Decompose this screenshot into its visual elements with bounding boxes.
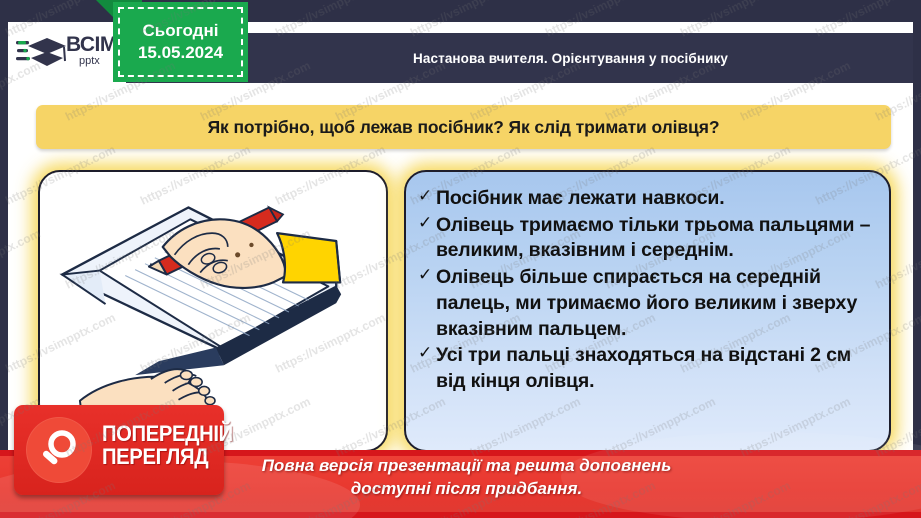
brand-logo-text: ВСІМ pptx: [66, 34, 117, 67]
list-item: ✓ Олівець тримаємо тільки трьома пальцям…: [416, 213, 873, 264]
list-item: ✓ Олівець більше спирається на середній …: [416, 265, 873, 342]
preview-badge-line2: ПЕРЕГЛЯД: [102, 445, 233, 468]
answers-panel: ✓ Посібник має лежати навкоси. ✓ Олівець…: [404, 170, 891, 452]
list-item: ✓ Посібник має лежати навкоси.: [416, 186, 873, 212]
question-banner: Як потрібно, щоб лежав посібник? Як слід…: [36, 105, 891, 149]
check-icon: ✓: [418, 212, 432, 234]
list-item-label: Усі три пальці знаходяться на відстані 2…: [436, 344, 851, 392]
slide-page: Настанова вчителя. Орієнтування у посібн…: [0, 0, 921, 518]
list-item-label: Посібник має лежати навкоси.: [436, 187, 725, 209]
preview-badge-line1: ПОПЕРЕДНІЙ: [102, 422, 233, 445]
check-icon: ✓: [418, 342, 432, 364]
list-item-label: Олівець більше спирається на середній па…: [436, 266, 857, 339]
today-date: 15.05.2024: [138, 42, 223, 64]
preview-badge[interactable]: ПОПЕРЕДНІЙ ПЕРЕГЛЯД: [14, 405, 224, 495]
today-date-badge: Сьогодні 15.05.2024: [113, 2, 248, 82]
check-icon: ✓: [418, 264, 432, 286]
brand-subtitle: pptx: [79, 56, 117, 67]
today-label: Сьогодні: [143, 20, 219, 42]
list-item-label: Олівець тримаємо тільки трьома пальцями …: [436, 214, 870, 262]
brand-logo[interactable]: ВСІМ pptx: [8, 22, 126, 84]
brand-name: ВСІМ: [66, 34, 117, 55]
question-text: Як потрібно, щоб лежав посібник? Як слід…: [208, 117, 720, 138]
answers-list: ✓ Посібник має лежати навкоси. ✓ Олівець…: [416, 186, 873, 395]
graduation-cap-icon: [16, 36, 68, 70]
list-item: ✓ Усі три пальці знаходяться на відстані…: [416, 343, 873, 394]
magnifier-icon: [38, 429, 80, 471]
preview-badge-labels: ПОПЕРЕДНІЙ ПЕРЕГЛЯД: [102, 422, 244, 468]
check-icon: ✓: [418, 185, 432, 207]
